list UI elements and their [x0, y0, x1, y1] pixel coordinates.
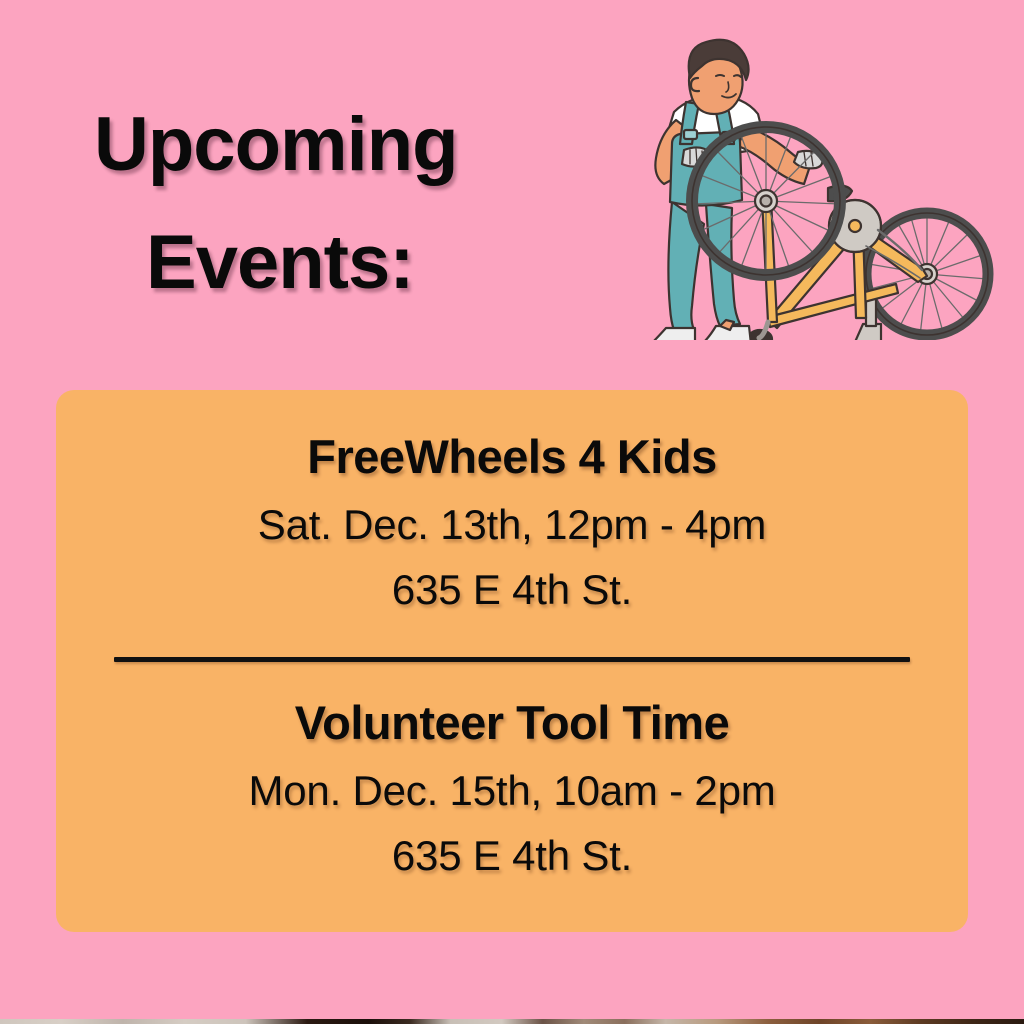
event-address: 635 E 4th St.	[80, 823, 944, 888]
page-title-line-1: Upcoming	[90, 86, 690, 204]
event-item: FreeWheels 4 Kids Sat. Dec. 13th, 12pm -…	[80, 422, 944, 643]
bicycle-repair-illustration	[650, 34, 1002, 340]
event-item: Volunteer Tool Time Mon. Dec. 15th, 10am…	[80, 662, 944, 909]
event-title: Volunteer Tool Time	[80, 688, 944, 758]
event-address: 635 E 4th St.	[80, 557, 944, 622]
event-datetime: Sat. Dec. 13th, 12pm - 4pm	[80, 492, 944, 557]
adjacent-image-sliver	[0, 1019, 1024, 1024]
event-datetime: Mon. Dec. 15th, 10am - 2pm	[80, 758, 944, 823]
person-back-shoe	[650, 328, 695, 340]
events-card: FreeWheels 4 Kids Sat. Dec. 13th, 12pm -…	[56, 390, 968, 932]
page-title: Upcoming Events:	[90, 86, 690, 322]
page-title-line-2: Events:	[90, 204, 690, 322]
event-title: FreeWheels 4 Kids	[80, 422, 944, 492]
flyer-canvas: Upcoming Events:	[0, 0, 1024, 1024]
bicycle-repair-svg	[650, 34, 1002, 340]
